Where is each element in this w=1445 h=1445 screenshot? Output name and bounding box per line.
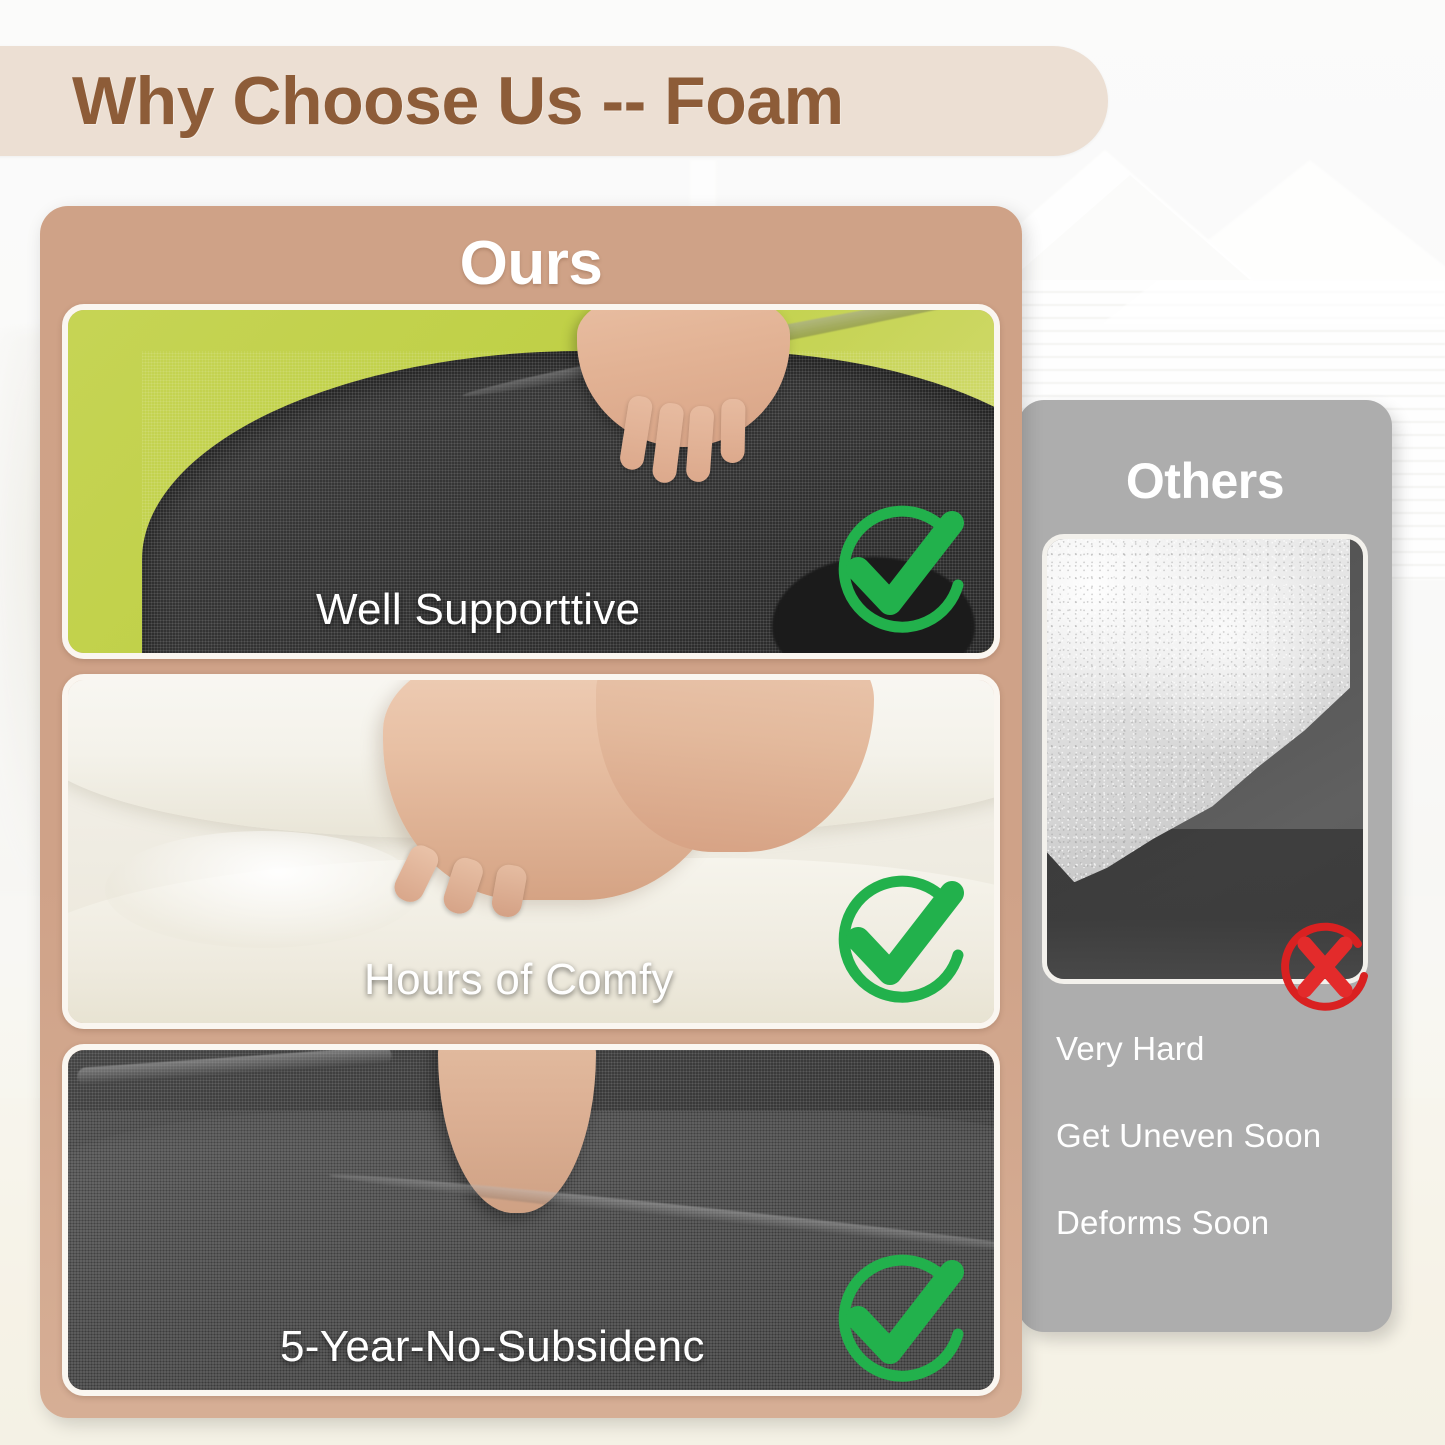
finger-4 xyxy=(720,399,745,463)
ours-card-1: Well Supporttive xyxy=(62,304,1000,659)
others-title: Others xyxy=(1018,452,1392,510)
others-panel: Others Very Hard Get Uneven Soon Deforms… xyxy=(1018,400,1392,1332)
infographic-canvas: Others Very Hard Get Uneven Soon Deforms… xyxy=(0,0,1445,1445)
ours-card-3: 5-Year-No-Subsidenc xyxy=(62,1044,1000,1396)
red-x-icon xyxy=(1272,914,1376,1018)
ours-card-2: Hours of Comfy xyxy=(62,674,1000,1029)
ours-card-2-label: Hours of Comfy xyxy=(364,955,674,1005)
ours-card-1-label: Well Supporttive xyxy=(316,585,640,635)
others-bullet-1: Very Hard xyxy=(1056,1030,1372,1068)
others-bullet-2: Get Uneven Soon xyxy=(1056,1117,1372,1155)
others-bullet-3: Deforms Soon xyxy=(1056,1204,1372,1242)
green-check-icon xyxy=(824,497,972,645)
page-title: Why Choose Us -- Foam xyxy=(72,62,844,140)
ours-title: Ours xyxy=(40,228,1022,299)
title-banner: Why Choose Us -- Foam xyxy=(0,46,1108,156)
green-check-icon xyxy=(824,1246,972,1394)
ours-card-3-label: 5-Year-No-Subsidenc xyxy=(280,1322,705,1372)
others-bullet-list: Very Hard Get Uneven Soon Deforms Soon xyxy=(1056,1030,1372,1291)
ours-panel: Ours Well Supporttive xyxy=(40,206,1022,1418)
green-check-icon xyxy=(824,867,972,1015)
foam-dimple xyxy=(105,831,420,948)
